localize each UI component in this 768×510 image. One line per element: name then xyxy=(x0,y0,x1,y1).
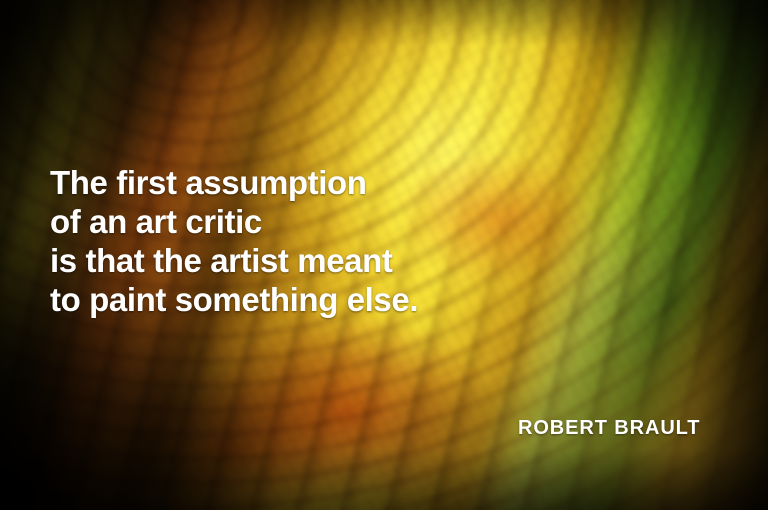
quote-line-3: is that the artist meant xyxy=(50,241,418,280)
quote-attribution: ROBERT BRAULT xyxy=(518,417,700,440)
quote-line-2: of an art critic xyxy=(50,202,418,241)
quote-text-block: The first assumption of an art critic is… xyxy=(50,163,418,319)
quote-line-1: The first assumption xyxy=(50,163,418,202)
quote-line-4: to paint something else. xyxy=(50,280,418,319)
quote-poster: The first assumption of an art critic is… xyxy=(0,0,768,510)
